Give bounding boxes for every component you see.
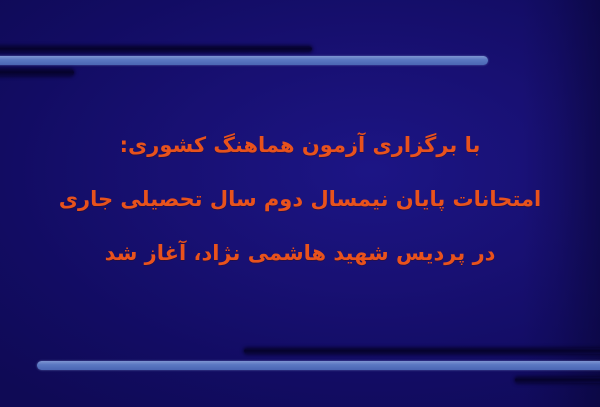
headline-block: با برگزاری آزمون هماهنگ کشوری: امتحانات … xyxy=(0,118,600,280)
banner-canvas: با برگزاری آزمون هماهنگ کشوری: امتحانات … xyxy=(0,0,600,407)
top-dark-rule-lower xyxy=(0,69,74,76)
headline-line-3: در پردیس شهید هاشمی نژاد، آغاز شد xyxy=(26,226,574,280)
bottom-dark-rule-upper xyxy=(244,348,600,354)
headline-line-1: با برگزاری آزمون هماهنگ کشوری: xyxy=(26,118,574,172)
top-dark-rule-upper xyxy=(0,46,312,52)
top-light-rule xyxy=(0,56,488,65)
bottom-light-rule xyxy=(37,361,600,370)
headline-line-2: امتحانات پایان نیمسال دوم سال تحصیلی جار… xyxy=(26,172,574,226)
bottom-dark-rule-lower xyxy=(515,377,600,383)
